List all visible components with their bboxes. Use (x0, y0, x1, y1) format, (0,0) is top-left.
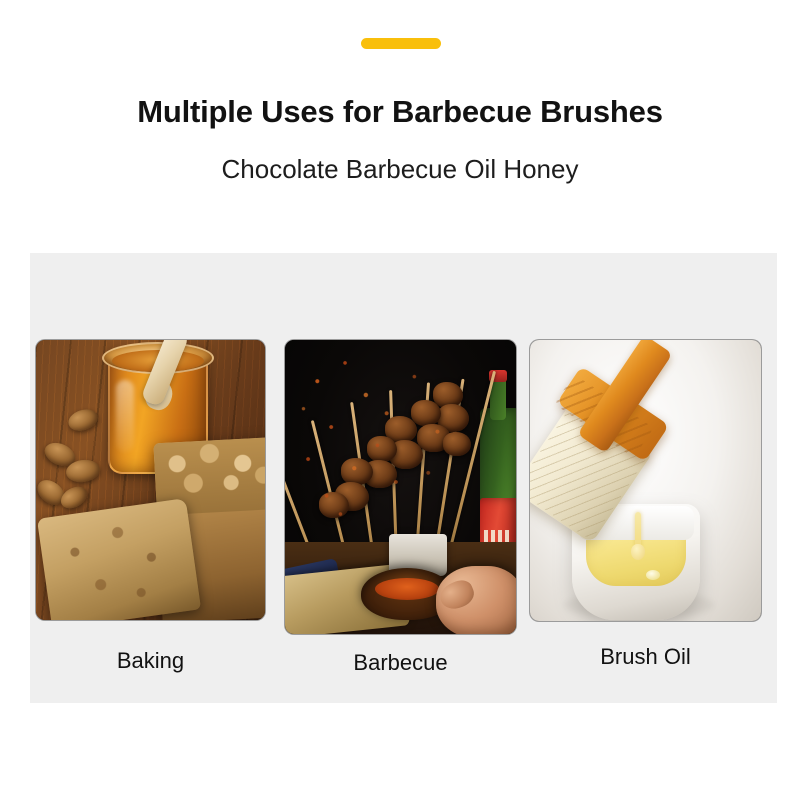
photo-brush-oil-bowl (530, 340, 761, 621)
chili-oil (375, 578, 439, 600)
jar-highlight (116, 380, 134, 452)
page-subtitle: Chocolate Barbecue Oil Honey (0, 152, 800, 186)
product-feature-page: Multiple Uses for Barbecue Brushes Choco… (0, 0, 800, 800)
use-card-brush-oil[interactable] (530, 340, 761, 621)
use-card-barbecue[interactable] (285, 340, 516, 634)
bread-slice (37, 498, 201, 620)
photo-honey-pecan-bread (36, 340, 265, 620)
use-card-baking[interactable] (36, 340, 265, 620)
caption-brush-oil: Brush Oil (530, 642, 761, 672)
oil-drip-bead (631, 544, 645, 560)
page-title: Multiple Uses for Barbecue Brushes (0, 92, 800, 132)
bread-crumb-texture (37, 498, 201, 620)
caption-baking: Baking (36, 646, 265, 676)
photo-meat-skewers (285, 340, 516, 634)
oil-bubble (646, 570, 660, 580)
accent-bar (361, 38, 441, 49)
caption-barbecue: Barbecue (285, 648, 516, 678)
